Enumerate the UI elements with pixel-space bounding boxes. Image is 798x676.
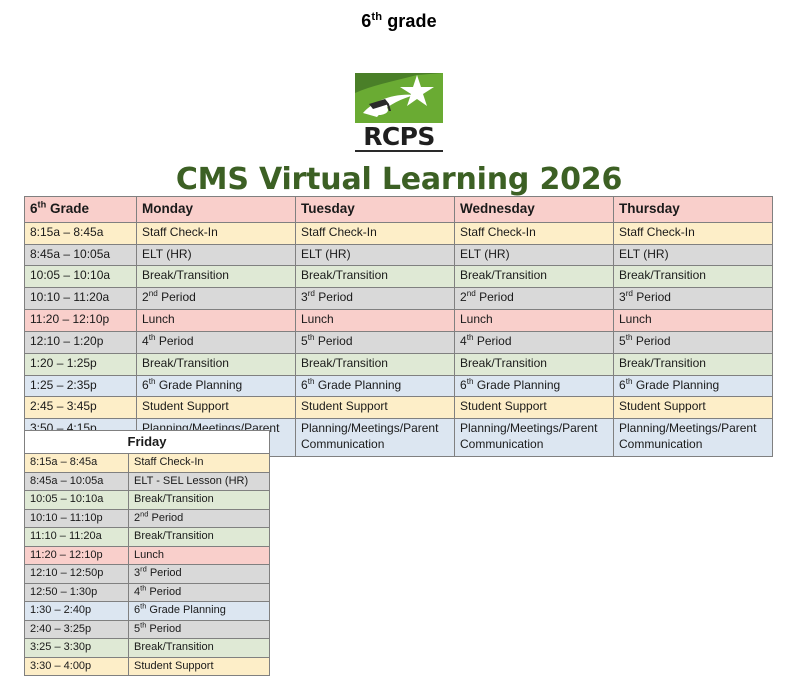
activity-cell: ELT (HR)	[296, 244, 455, 266]
activity-3-3-text-tail: Period	[633, 290, 671, 304]
activity-6-0-text: Break/Transition	[142, 356, 229, 370]
col-tuesday-text: Tuesday	[301, 201, 355, 216]
col-grade: 6th Grade	[25, 197, 137, 223]
weekly-schedule-table: 6th GradeMondayTuesdayWednesdayThursday …	[24, 196, 773, 457]
activity-5-3-ordinal: th	[626, 333, 633, 342]
col-monday-text: Monday	[142, 201, 193, 216]
friday-activity-5-text: Lunch	[134, 549, 164, 561]
activity-3-2-ordinal: nd	[467, 289, 476, 298]
time-slot-cell: 1:25 – 2:35p	[25, 375, 137, 397]
friday-activity-1-text: ELT - SEL Lesson (HR)	[134, 475, 248, 487]
activity-5-3-text: 5	[619, 334, 626, 348]
page-title: 6th grade	[0, 0, 798, 32]
schedule-row: 10:05 – 10:10aBreak/TransitionBreak/Tran…	[25, 266, 773, 288]
activity-cell: Break/Transition	[296, 266, 455, 288]
friday-activity-cell: Staff Check-In	[129, 454, 270, 473]
schedule-row: 8:45a – 10:05aELT (HR)ELT (HR)ELT (HR)EL…	[25, 244, 773, 266]
activity-8-3-text: Student Support	[619, 399, 706, 413]
friday-activity-cell: Student Support	[129, 657, 270, 676]
activity-cell: 5th Period	[296, 331, 455, 353]
activity-cell: 6th Grade Planning	[614, 375, 773, 397]
time-slot-cell: 11:20 – 12:10p	[25, 310, 137, 332]
schedule-row: 8:15a – 8:45aStaff Check-InStaff Check-I…	[25, 222, 773, 244]
activity-3-1-text-tail: Period	[315, 290, 353, 304]
friday-schedule-row: 8:15a – 8:45aStaff Check-In	[25, 454, 270, 473]
activity-cell: Lunch	[614, 310, 773, 332]
activity-cell: Break/Transition	[137, 353, 296, 375]
friday-time-slot-cell: 11:20 – 12:10p	[25, 546, 129, 565]
friday-schedule-container: Friday 8:15a – 8:45aStaff Check-In8:45a …	[24, 430, 270, 676]
friday-schedule-table: Friday 8:15a – 8:45aStaff Check-In8:45a …	[24, 430, 270, 676]
activity-cell: 6th Grade Planning	[296, 375, 455, 397]
friday-activity-cell: 5th Period	[129, 620, 270, 639]
friday-activity-cell: Lunch	[129, 546, 270, 565]
activity-9-1-text: Planning/Meetings/Parent Communication	[301, 421, 438, 451]
friday-activity-cell: Break/Transition	[129, 491, 270, 510]
friday-activity-6-text-tail: Period	[147, 567, 182, 579]
friday-activity-cell: 3rd Period	[129, 565, 270, 584]
time-slot-cell: 8:15a – 8:45a	[25, 222, 137, 244]
activity-3-3-text: 3	[619, 290, 626, 304]
activity-cell: 3rd Period	[614, 288, 773, 310]
document-title: CMS Virtual Learning 2026	[0, 162, 798, 197]
activity-4-3-text: Lunch	[619, 312, 652, 326]
friday-schedule-row: 3:25 – 3:30pBreak/Transition	[25, 639, 270, 658]
activity-cell: Staff Check-In	[614, 222, 773, 244]
activity-0-3-text: Staff Check-In	[619, 225, 695, 239]
time-slot-cell: 8:45a – 10:05a	[25, 244, 137, 266]
col-grade-text-tail: Grade	[46, 201, 89, 216]
activity-cell: Break/Transition	[614, 266, 773, 288]
friday-time-slot-cell: 3:30 – 4:00p	[25, 657, 129, 676]
activity-5-2-text: 4	[460, 334, 467, 348]
time-slot-cell: 12:10 – 1:20p	[25, 331, 137, 353]
activity-cell: Staff Check-In	[296, 222, 455, 244]
rcps-wordmark: RCPS	[355, 124, 443, 149]
col-thursday-text: Thursday	[619, 201, 680, 216]
friday-schedule-row: 8:45a – 10:05aELT - SEL Lesson (HR)	[25, 472, 270, 491]
activity-4-0-text: Lunch	[142, 312, 175, 326]
activity-2-1-text: Break/Transition	[301, 268, 388, 282]
activity-cell: Lunch	[137, 310, 296, 332]
activity-cell: Break/Transition	[137, 266, 296, 288]
activity-cell: ELT (HR)	[137, 244, 296, 266]
weekly-schedule-container: 6th GradeMondayTuesdayWednesdayThursday …	[24, 196, 773, 457]
activity-cell: 3rd Period	[296, 288, 455, 310]
activity-3-0-text: 2	[142, 290, 149, 304]
weekly-header-row: 6th GradeMondayTuesdayWednesdayThursday	[25, 197, 773, 223]
page-title-grade-word: grade	[382, 11, 437, 31]
time-slot-cell: 10:10 – 11:20a	[25, 288, 137, 310]
activity-3-2-text-tail: Period	[476, 290, 514, 304]
friday-header-label: Friday	[25, 431, 270, 454]
friday-activity-cell: 4th Period	[129, 583, 270, 602]
logo-container: RCPS	[0, 73, 798, 152]
friday-activity-0-text: Staff Check-In	[134, 456, 204, 468]
activity-cell: Lunch	[455, 310, 614, 332]
activity-cell: Staff Check-In	[455, 222, 614, 244]
activity-7-1-text-tail: Grade Planning	[315, 378, 402, 392]
activity-cell: Student Support	[137, 397, 296, 419]
activity-cell: 2nd Period	[455, 288, 614, 310]
col-thursday: Thursday	[614, 197, 773, 223]
activity-5-0-text: 4	[142, 334, 149, 348]
activity-5-2-ordinal: th	[467, 333, 474, 342]
schedule-row: 11:20 – 12:10pLunchLunchLunchLunch	[25, 310, 773, 332]
time-slot-cell: 1:20 – 1:25p	[25, 353, 137, 375]
friday-schedule-body: 8:15a – 8:45aStaff Check-In8:45a – 10:05…	[25, 454, 270, 676]
page-title-ordinal-suffix: th	[371, 11, 382, 23]
time-slot-cell: 2:45 – 3:45p	[25, 397, 137, 419]
friday-header-row: Friday	[25, 431, 270, 454]
friday-time-slot-cell: 12:10 – 12:50p	[25, 565, 129, 584]
col-grade-text: 6	[30, 201, 38, 216]
friday-activity-4-text: Break/Transition	[134, 530, 214, 542]
schedule-row: 10:10 – 11:20a2nd Period3rd Period2nd Pe…	[25, 288, 773, 310]
activity-cell: 6th Grade Planning	[137, 375, 296, 397]
activity-5-0-text-tail: Period	[156, 334, 194, 348]
schedule-row: 1:25 – 2:35p6th Grade Planning6th Grade …	[25, 375, 773, 397]
activity-7-2-ordinal: th	[467, 377, 474, 386]
col-monday: Monday	[137, 197, 296, 223]
activity-cell: Student Support	[455, 397, 614, 419]
friday-schedule-row: 3:30 – 4:00pStudent Support	[25, 657, 270, 676]
activity-cell: Planning/Meetings/Parent Communication	[614, 419, 773, 457]
friday-time-slot-cell: 1:30 – 2:40p	[25, 602, 129, 621]
rcps-logo: RCPS	[355, 73, 443, 152]
rcps-emblem-icon	[355, 73, 443, 123]
activity-9-2-text: Planning/Meetings/Parent Communication	[460, 421, 597, 451]
activity-2-3-text: Break/Transition	[619, 268, 706, 282]
activity-cell: Student Support	[296, 397, 455, 419]
friday-schedule-row: 1:30 – 2:40p6th Grade Planning	[25, 602, 270, 621]
friday-schedule-row: 12:10 – 12:50p3rd Period	[25, 565, 270, 584]
activity-3-2-text: 2	[460, 290, 467, 304]
activity-cell: Break/Transition	[614, 353, 773, 375]
activity-cell: Break/Transition	[296, 353, 455, 375]
friday-time-slot-cell: 8:15a – 8:45a	[25, 454, 129, 473]
friday-activity-8-text-tail: Grade Planning	[146, 604, 226, 616]
activity-2-2-text: Break/Transition	[460, 268, 547, 282]
friday-activity-3-text-tail: Period	[148, 512, 183, 524]
activity-8-0-text: Student Support	[142, 399, 229, 413]
col-grade-ordinal: th	[38, 200, 47, 210]
activity-3-3-ordinal: rd	[626, 289, 633, 298]
activity-7-3-ordinal: th	[626, 377, 633, 386]
friday-schedule-row: 12:50 – 1:30p4th Period	[25, 583, 270, 602]
friday-schedule-row: 11:20 – 12:10pLunch	[25, 546, 270, 565]
activity-cell: Lunch	[296, 310, 455, 332]
time-slot-cell: 10:05 – 10:10a	[25, 266, 137, 288]
activity-4-1-text: Lunch	[301, 312, 334, 326]
friday-activity-cell: 2nd Period	[129, 509, 270, 528]
friday-activity-10-text: Break/Transition	[134, 641, 214, 653]
friday-schedule-row: 11:10 – 11:20aBreak/Transition	[25, 528, 270, 547]
activity-cell: Break/Transition	[455, 353, 614, 375]
activity-1-2-text: ELT (HR)	[460, 247, 510, 261]
activity-0-1-text: Staff Check-In	[301, 225, 377, 239]
friday-time-slot-cell: 10:05 – 10:10a	[25, 491, 129, 510]
friday-time-slot-cell: 3:25 – 3:30p	[25, 639, 129, 658]
friday-activity-cell: Break/Transition	[129, 639, 270, 658]
activity-3-1-ordinal: rd	[308, 289, 315, 298]
activity-cell: 4th Period	[455, 331, 614, 353]
page-title-grade-number: 6	[361, 11, 371, 31]
activity-8-1-text: Student Support	[301, 399, 388, 413]
activity-7-1-text: 6	[301, 378, 308, 392]
activity-5-3-text-tail: Period	[633, 334, 671, 348]
friday-time-slot-cell: 10:10 – 11:10p	[25, 509, 129, 528]
activity-cell: Staff Check-In	[137, 222, 296, 244]
activity-cell: 6th Grade Planning	[455, 375, 614, 397]
activity-cell: Break/Transition	[455, 266, 614, 288]
activity-5-2-text-tail: Period	[474, 334, 512, 348]
activity-cell: 2nd Period	[137, 288, 296, 310]
schedule-row: 12:10 – 1:20p4th Period5th Period4th Per…	[25, 331, 773, 353]
activity-1-0-text: ELT (HR)	[142, 247, 192, 261]
activity-7-1-ordinal: th	[308, 377, 315, 386]
schedule-row: 1:20 – 1:25pBreak/TransitionBreak/Transi…	[25, 353, 773, 375]
activity-5-0-ordinal: th	[149, 333, 156, 342]
activity-6-1-text: Break/Transition	[301, 356, 388, 370]
friday-time-slot-cell: 11:10 – 11:20a	[25, 528, 129, 547]
activity-3-0-ordinal: nd	[149, 289, 158, 298]
activity-7-3-text: 6	[619, 378, 626, 392]
activity-5-1-text-tail: Period	[315, 334, 353, 348]
activity-0-0-text: Staff Check-In	[142, 225, 218, 239]
activity-8-2-text: Student Support	[460, 399, 547, 413]
activity-0-2-text: Staff Check-In	[460, 225, 536, 239]
friday-time-slot-cell: 2:40 – 3:25p	[25, 620, 129, 639]
activity-cell: ELT (HR)	[614, 244, 773, 266]
activity-cell: Planning/Meetings/Parent Communication	[455, 419, 614, 457]
friday-schedule-row: 2:40 – 3:25p5th Period	[25, 620, 270, 639]
friday-activity-6-ordinal: rd	[140, 565, 147, 574]
friday-activity-cell: ELT - SEL Lesson (HR)	[129, 472, 270, 491]
friday-time-slot-cell: 8:45a – 10:05a	[25, 472, 129, 491]
friday-time-slot-cell: 12:50 – 1:30p	[25, 583, 129, 602]
col-wednesday-text: Wednesday	[460, 201, 535, 216]
friday-activity-11-text: Student Support	[134, 660, 214, 672]
weekly-schedule-body: 8:15a – 8:45aStaff Check-InStaff Check-I…	[25, 222, 773, 456]
friday-activity-cell: Break/Transition	[129, 528, 270, 547]
col-wednesday: Wednesday	[455, 197, 614, 223]
activity-7-0-ordinal: th	[149, 377, 156, 386]
activity-7-2-text: 6	[460, 378, 467, 392]
activity-3-1-text: 3	[301, 290, 308, 304]
col-tuesday: Tuesday	[296, 197, 455, 223]
activity-3-0-text-tail: Period	[158, 290, 196, 304]
activity-cell: 5th Period	[614, 331, 773, 353]
activity-1-1-text: ELT (HR)	[301, 247, 351, 261]
friday-activity-cell: 6th Grade Planning	[129, 602, 270, 621]
schedule-row: 2:45 – 3:45pStudent SupportStudent Suppo…	[25, 397, 773, 419]
activity-5-1-text: 5	[301, 334, 308, 348]
activity-4-2-text: Lunch	[460, 312, 493, 326]
friday-activity-2-text: Break/Transition	[134, 493, 214, 505]
activity-6-2-text: Break/Transition	[460, 356, 547, 370]
activity-2-0-text: Break/Transition	[142, 268, 229, 282]
activity-cell: 4th Period	[137, 331, 296, 353]
activity-7-0-text-tail: Grade Planning	[156, 378, 243, 392]
activity-9-3-text: Planning/Meetings/Parent Communication	[619, 421, 756, 451]
activity-7-2-text-tail: Grade Planning	[474, 378, 561, 392]
activity-7-0-text: 6	[142, 378, 149, 392]
activity-6-3-text: Break/Transition	[619, 356, 706, 370]
friday-schedule-row: 10:10 – 11:10p2nd Period	[25, 509, 270, 528]
activity-1-3-text: ELT (HR)	[619, 247, 669, 261]
activity-5-1-ordinal: th	[308, 333, 315, 342]
activity-cell: Planning/Meetings/Parent Communication	[296, 419, 455, 457]
friday-schedule-row: 10:05 – 10:10aBreak/Transition	[25, 491, 270, 510]
friday-activity-9-text-tail: Period	[146, 623, 181, 635]
activity-7-3-text-tail: Grade Planning	[633, 378, 720, 392]
friday-activity-7-text-tail: Period	[146, 586, 181, 598]
activity-cell: ELT (HR)	[455, 244, 614, 266]
activity-cell: Student Support	[614, 397, 773, 419]
